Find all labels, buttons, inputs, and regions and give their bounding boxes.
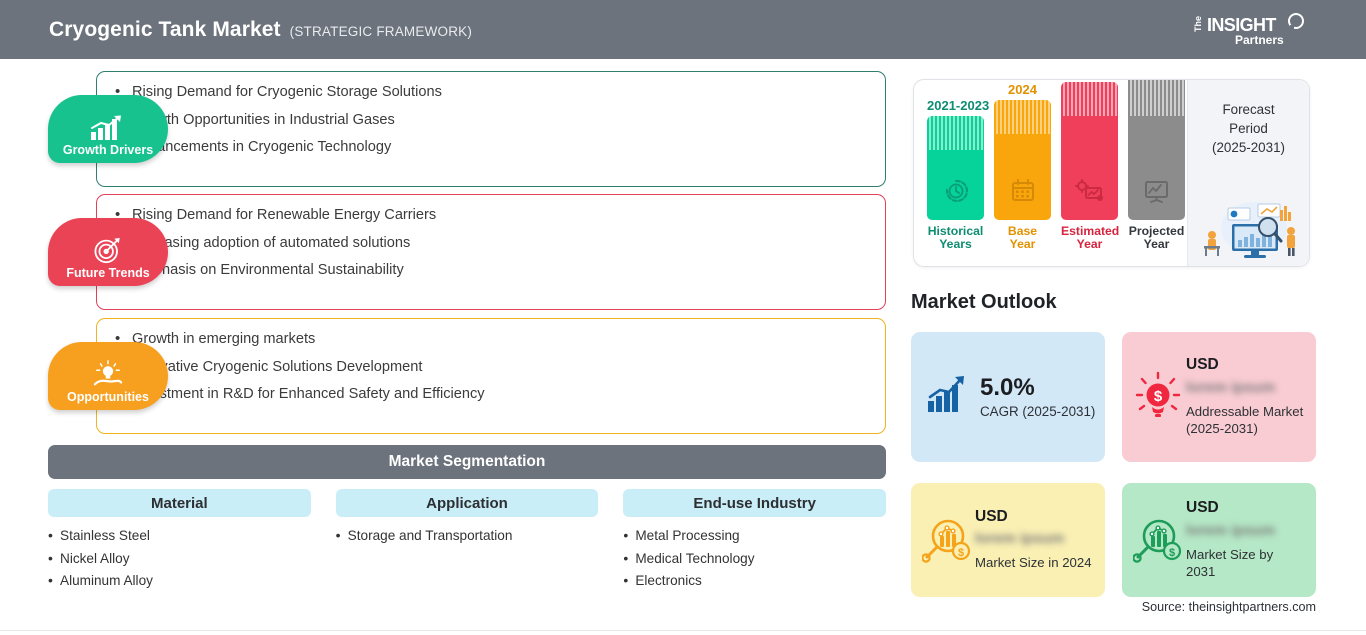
- segment-header-end-use-industry[interactable]: End-use Industry: [623, 489, 886, 517]
- bar-solid: [927, 150, 984, 220]
- market-segmentation-header: Market Segmentation: [48, 445, 886, 479]
- svg-text:The: The: [1193, 16, 1203, 32]
- presentation-chart-icon: [1143, 178, 1171, 209]
- card-inner: $ USD lorem ipsum Market Size in 2024: [911, 483, 1105, 597]
- bar-historical-years: 2021-2023 Historical Years: [927, 99, 984, 252]
- svg-text:$: $: [958, 547, 964, 559]
- magnifier-chart-dollar-icon: $: [1130, 515, 1186, 565]
- list-item: Metal Processing: [623, 529, 886, 543]
- bar-chart-arrow-up-icon: [925, 374, 971, 421]
- header-title-group: Cryogenic Tank Market (STRATEGIC FRAMEWO…: [49, 18, 472, 42]
- bar-year-label: 2021-2023: [927, 99, 984, 112]
- opportunities-bullets: Growth in emerging markets Innovative Cr…: [97, 319, 885, 415]
- segment-header-label: End-use Industry: [693, 495, 816, 512]
- svg-text:INSIGHT: INSIGHT: [1207, 15, 1276, 35]
- growth-drivers-label: Growth Drivers: [63, 144, 153, 157]
- card-body: USD lorem ipsum Market Size by 2031: [1186, 500, 1306, 580]
- cagr-value: 5.0%: [980, 375, 1095, 400]
- list-item: Rising Demand for Renewable Energy Carri…: [115, 208, 885, 223]
- bottom-divider: [0, 630, 1366, 631]
- bar-stripes: [927, 116, 984, 150]
- future-trends-badge[interactable]: Future Trends: [48, 218, 168, 286]
- market-segmentation-title: Market Segmentation: [389, 453, 546, 471]
- list-item: Innovative Cryogenic Solutions Developme…: [115, 360, 885, 375]
- svg-text:Partners: Partners: [1235, 33, 1284, 47]
- card-inner: $ USD lorem ipsum Addressable Market (20…: [1122, 332, 1316, 462]
- list-item: Rising Demand for Cryogenic Storage Solu…: [115, 85, 885, 100]
- list-item: Storage and Transportation: [336, 529, 599, 543]
- segment-items-application: Storage and Transportation: [336, 529, 599, 543]
- market-value-redacted: lorem ipsum: [1186, 380, 1306, 395]
- segment-header-application[interactable]: Application: [336, 489, 599, 517]
- infographic-page: Cryogenic Tank Market (STRATEGIC FRAMEWO…: [0, 0, 1366, 635]
- analytics-dashboard-illustration: [1196, 194, 1302, 260]
- list-item: Emphasis on Environmental Sustainability: [115, 263, 885, 278]
- list-item: Aluminum Alloy: [48, 574, 311, 588]
- opportunities-label: Opportunities: [67, 391, 149, 404]
- bar-caption: Projected Year: [1128, 225, 1185, 252]
- lightbulb-dollar-icon: $: [1130, 371, 1186, 423]
- bar-shape: [1128, 79, 1185, 220]
- market-outlook-title: Market Outlook: [911, 291, 1057, 314]
- bar-caption: Base Year: [994, 225, 1051, 252]
- cagr-text-group: 5.0% CAGR (2025-2031): [980, 375, 1095, 418]
- bar-stripes: [1061, 82, 1118, 116]
- segment-header-material[interactable]: Material: [48, 489, 311, 517]
- card-caption: Market Size by 2031: [1186, 546, 1306, 580]
- segment-header-label: Application: [426, 495, 508, 512]
- bar-projected-year: 2031 Projected Year: [1128, 79, 1185, 252]
- growth-drivers-bullets: Rising Demand for Cryogenic Storage Solu…: [97, 72, 885, 168]
- list-item: Nickel Alloy: [48, 552, 311, 566]
- bar-caption: Estimated Year: [1061, 225, 1118, 252]
- forecast-period-text: Forecast Period (2025-2031): [1188, 80, 1309, 157]
- list-item: Electronics: [623, 574, 886, 588]
- forecast-line-2: Period: [1188, 119, 1309, 138]
- list-item: Growth in emerging markets: [115, 332, 885, 347]
- bar-shape: [1061, 82, 1118, 220]
- bar-solid: [1061, 116, 1118, 220]
- list-item: Stainless Steel: [48, 529, 311, 543]
- currency-label: USD: [1186, 357, 1306, 373]
- segment-items-material: Stainless Steel Nickel Alloy Aluminum Al…: [48, 529, 311, 588]
- insight-partners-logo[interactable]: The INSIGHT Partners: [1191, 11, 1309, 49]
- bar-base-year: 2024: [994, 83, 1051, 252]
- future-trends-label: Future Trends: [66, 267, 149, 280]
- bar-chart-growth-icon: [88, 113, 128, 141]
- segment-column-end-use-industry: End-use Industry Metal Processing Medica…: [623, 489, 886, 597]
- clock-history-icon: [943, 178, 969, 209]
- opportunities-badge[interactable]: Opportunities: [48, 342, 168, 410]
- bar-caption: Historical Years: [927, 225, 984, 252]
- card-caption: Addressable Market (2025-2031): [1186, 403, 1306, 437]
- svg-text:$: $: [1154, 388, 1163, 405]
- future-trends-box: Rising Demand for Renewable Energy Carri…: [96, 194, 886, 310]
- page-header: Cryogenic Tank Market (STRATEGIC FRAMEWO…: [0, 0, 1366, 59]
- currency-label: USD: [1186, 500, 1306, 516]
- card-body: USD lorem ipsum Addressable Market (2025…: [1186, 357, 1306, 437]
- market-value-redacted: lorem ipsum: [975, 531, 1095, 546]
- growth-drivers-box: Rising Demand for Cryogenic Storage Solu…: [96, 71, 886, 187]
- page-title: Cryogenic Tank Market: [49, 18, 281, 42]
- cagr-label: CAGR (2025-2031): [980, 404, 1095, 419]
- forecast-line-1: Forecast: [1188, 100, 1309, 119]
- opportunities-box: Growth in emerging markets Innovative Cr…: [96, 318, 886, 434]
- bar-shape: [994, 100, 1051, 220]
- bar-estimated-year: 2025: [1061, 79, 1118, 252]
- magnifier-chart-dollar-icon: $: [919, 515, 975, 565]
- market-segmentation-columns: Material Stainless Steel Nickel Alloy Al…: [48, 489, 886, 597]
- list-item: Growth Opportunities in Industrial Gases: [115, 113, 885, 128]
- segment-header-label: Material: [151, 495, 208, 512]
- forecast-period-label-panel: Forecast Period (2025-2031): [1187, 80, 1309, 266]
- card-caption: Market Size in 2024: [975, 554, 1095, 571]
- card-inner: $ USD lorem ipsum Market Size by 2031: [1122, 483, 1316, 597]
- future-trends-bullets: Rising Demand for Renewable Energy Carri…: [97, 195, 885, 291]
- list-item: Medical Technology: [623, 552, 886, 566]
- list-item: Advancements in Cryogenic Technology: [115, 140, 885, 155]
- addressable-market-card[interactable]: $ USD lorem ipsum Addressable Market (20…: [1122, 332, 1316, 462]
- bar-solid: [994, 134, 1051, 220]
- source-attribution: Source: theinsightpartners.com: [1142, 600, 1316, 614]
- bar-shape: [927, 116, 984, 220]
- gear-analytics-icon: [1075, 178, 1105, 209]
- forecast-period-panel: 2021-2023 Historical Years: [913, 79, 1310, 267]
- target-dartboard-icon: [91, 236, 125, 264]
- market-size-2024-card[interactable]: $ USD lorem ipsum Market Size in 2024: [911, 483, 1105, 597]
- segment-items-end-use-industry: Metal Processing Medical Technology Elec…: [623, 529, 886, 588]
- svg-text:$: $: [1169, 547, 1175, 559]
- market-size-2031-card[interactable]: $ USD lorem ipsum Market Size by 2031: [1122, 483, 1316, 597]
- segment-column-application: Application Storage and Transportation: [336, 489, 599, 597]
- bar-solid: [1128, 116, 1185, 220]
- bar-stripes: [994, 100, 1051, 134]
- cagr-card[interactable]: 5.0% CAGR (2025-2031): [911, 332, 1105, 462]
- market-value-redacted: lorem ipsum: [1186, 523, 1306, 538]
- card-body: USD lorem ipsum Market Size in 2024: [975, 509, 1095, 572]
- bar-year-label: 2024: [994, 83, 1051, 96]
- forecast-bar-chart: 2021-2023 Historical Years: [914, 80, 1186, 266]
- calendar-icon: [1010, 178, 1036, 209]
- growth-drivers-badge[interactable]: Growth Drivers: [48, 95, 168, 163]
- bar-stripes: [1128, 79, 1185, 116]
- list-item: Increasing adoption of automated solutio…: [115, 236, 885, 251]
- segment-column-material: Material Stainless Steel Nickel Alloy Al…: [48, 489, 311, 597]
- currency-label: USD: [975, 509, 1095, 525]
- lightbulb-hand-icon: [91, 360, 125, 388]
- page-subtitle: (STRATEGIC FRAMEWORK): [290, 24, 472, 39]
- list-item: Investment in R&D for Enhanced Safety an…: [115, 387, 885, 402]
- forecast-line-3: (2025-2031): [1188, 138, 1309, 157]
